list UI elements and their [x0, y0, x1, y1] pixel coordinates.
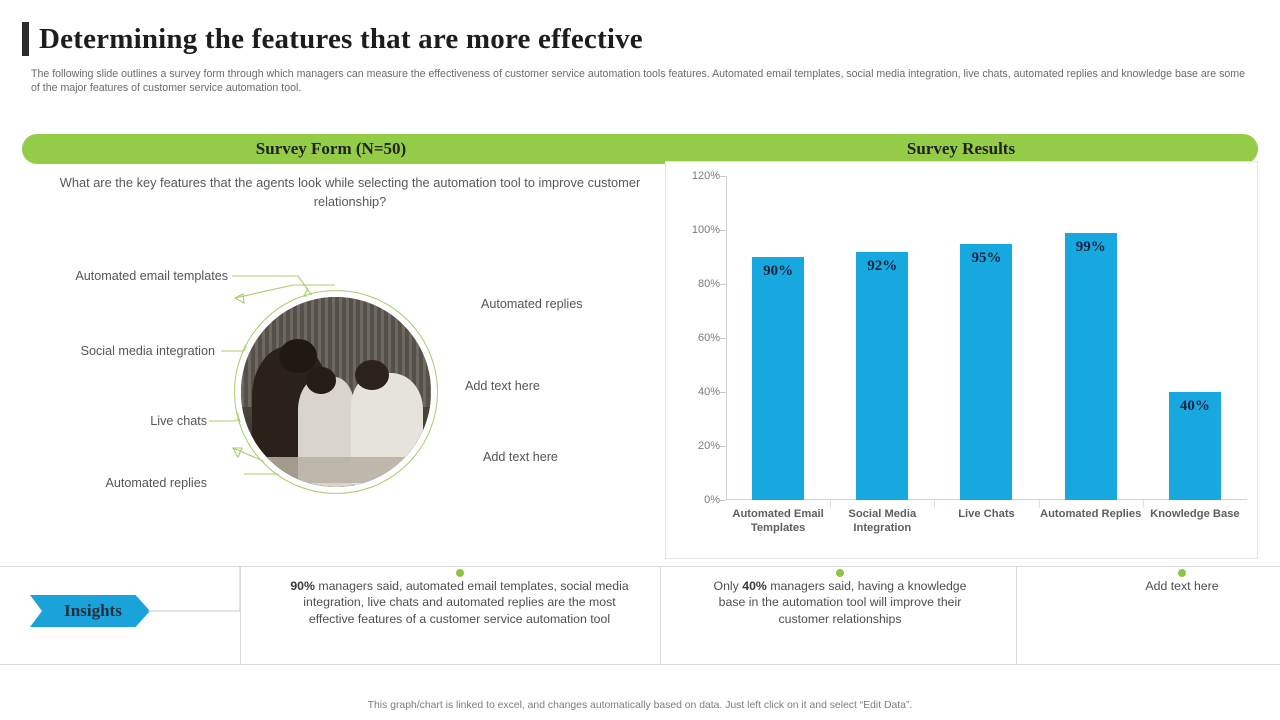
- insights-sep-3: [1016, 567, 1017, 664]
- chart-plot-area: 0%20%40%60%80%100%120% 90%92%95%99%40% A…: [666, 162, 1257, 558]
- feature-label-automated-email-templates: Automated email templates: [10, 268, 228, 284]
- x-axis-separator: [830, 500, 831, 508]
- insights-connector-line: [148, 566, 268, 618]
- chart-bar[interactable]: 99%: [1065, 233, 1117, 500]
- chart-x-axis-label: Automated Email Templates: [726, 508, 830, 535]
- chart-bars-area: 90%92%95%99%40%: [726, 176, 1247, 500]
- chart-bar[interactable]: 90%: [752, 257, 804, 500]
- chart-bar-value-label: 90%: [752, 263, 804, 280]
- chart-y-axis: 0%20%40%60%80%100%120%: [674, 162, 720, 558]
- title-accent-bar: [22, 22, 29, 56]
- y-axis-tick-label: 80%: [680, 278, 720, 290]
- x-axis-separator: [1143, 500, 1144, 508]
- insight-1-highlight: 90%: [290, 579, 315, 593]
- insight-2-highlight: 40%: [742, 579, 767, 593]
- x-axis-separator: [1039, 500, 1040, 508]
- survey-form-header-label: Survey Form (N=50): [22, 136, 640, 162]
- team-photo: [241, 297, 431, 487]
- feature-label-automated-replies-left: Automated replies: [100, 475, 207, 491]
- chart-bar-value-label: 92%: [856, 258, 908, 275]
- chart-bar-slot: 99%: [1039, 176, 1143, 500]
- chart-bar[interactable]: 95%: [960, 244, 1012, 501]
- team-photo-image: [241, 297, 431, 487]
- insight-3-text: Add text here: [1145, 579, 1218, 593]
- y-axis-tick-label: 60%: [680, 332, 720, 344]
- y-axis-tick-label: 0%: [680, 494, 720, 506]
- feature-label-add-text-here-2: Add text here: [483, 449, 663, 465]
- survey-results-header-label: Survey Results: [664, 136, 1258, 162]
- insight-item-3: Add text here: [1126, 578, 1238, 594]
- y-axis-tick-label: 100%: [680, 224, 720, 236]
- slide-root: Determining the features that are more e…: [0, 0, 1280, 720]
- chart-x-axis-label: Automated Replies: [1039, 508, 1143, 522]
- y-axis-tick: [720, 500, 726, 501]
- insight-dot-icon-2: [836, 569, 844, 577]
- chart-x-axis-label: Knowledge Base: [1143, 508, 1247, 522]
- insight-item-2: Only 40% managers said, having a knowled…: [700, 578, 980, 627]
- insights-sep-2: [660, 567, 661, 664]
- survey-question-text: What are the key features that the agent…: [40, 173, 660, 211]
- chart-bar-value-label: 95%: [960, 250, 1012, 267]
- insight-item-1: 90% managers said, automated email templ…: [282, 578, 637, 627]
- subtitle-text: The following slide outlines a survey fo…: [31, 67, 1247, 95]
- insight-dot-icon-1: [456, 569, 464, 577]
- chart-bar[interactable]: 40%: [1169, 392, 1221, 500]
- insight-1-text: managers said, automated email templates…: [303, 579, 628, 626]
- insight-dot-icon-3: [1178, 569, 1186, 577]
- chart-x-axis-label: Live Chats: [934, 508, 1038, 522]
- x-axis-separator: [934, 500, 935, 508]
- insights-sep-1: [240, 567, 241, 664]
- insights-badge: Insights: [30, 595, 150, 627]
- survey-results-chart[interactable]: 0%20%40%60%80%100%120% 90%92%95%99%40% A…: [665, 161, 1258, 559]
- chart-bar-value-label: 99%: [1065, 239, 1117, 256]
- chart-bar-slot: 40%: [1143, 176, 1247, 500]
- y-axis-tick-label: 120%: [680, 170, 720, 182]
- y-axis-tick-label: 20%: [680, 440, 720, 452]
- feature-label-social-media-integration: Social media integration: [10, 343, 215, 359]
- page-title: Determining the features that are more e…: [22, 22, 643, 56]
- chart-bar[interactable]: 92%: [856, 252, 908, 500]
- feature-label-add-text-here-1: Add text here: [465, 378, 645, 394]
- insights-bottom-divider: [0, 664, 1280, 665]
- chart-bar-slot: 92%: [830, 176, 934, 500]
- title-text: Determining the features that are more e…: [39, 23, 643, 56]
- insights-badge-label: Insights: [58, 601, 122, 621]
- chart-bar-slot: 95%: [934, 176, 1038, 500]
- insight-2-lead: Only: [714, 579, 743, 593]
- y-axis-tick-label: 40%: [680, 386, 720, 398]
- chart-bar-value-label: 40%: [1169, 398, 1221, 415]
- chart-x-axis-label: Social Media Integration: [830, 508, 934, 535]
- feature-label-automated-replies-right: Automated replies: [481, 296, 671, 312]
- footer-note: This graph/chart is linked to excel, and…: [0, 700, 1280, 711]
- chart-bar-slot: 90%: [726, 176, 830, 500]
- feature-label-live-chats: Live chats: [10, 413, 207, 429]
